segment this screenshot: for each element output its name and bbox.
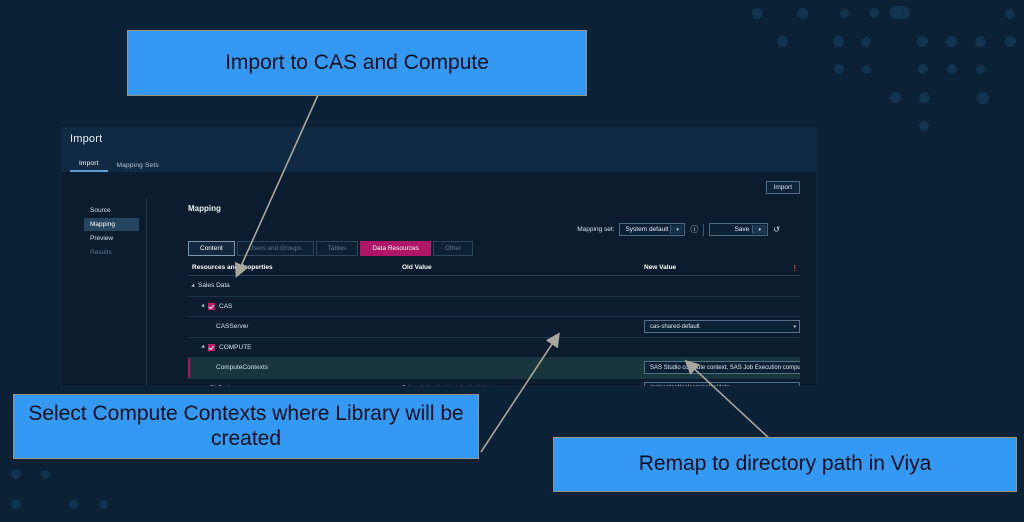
wizard-step-nav[interactable]: Source Mapping Preview Results bbox=[84, 204, 139, 260]
callout-import-to-cas: Import to CAS and Compute bbox=[127, 30, 587, 96]
sidebar-item-results: Results bbox=[84, 246, 139, 259]
tab-content[interactable]: Content bbox=[188, 241, 235, 256]
tab-users-and-groups[interactable]: Users and Groups bbox=[237, 241, 314, 256]
old-value: D:\workshop\gelcorp\sales\data bbox=[398, 385, 638, 386]
import-button[interactable]: Import bbox=[766, 181, 800, 194]
save-button-label: Save bbox=[734, 226, 749, 233]
table-row[interactable]: ComputeContexts SAS Studio compute conte… bbox=[188, 358, 800, 379]
column-header-resources: Resources and Properties bbox=[188, 264, 398, 271]
row-checkbox[interactable] bbox=[208, 344, 215, 351]
page-title: Import bbox=[70, 133, 102, 145]
chevron-down-icon[interactable]: ▾ bbox=[670, 225, 683, 234]
tab-other[interactable]: Other bbox=[433, 241, 473, 256]
mapping-set-label: Mapping set: bbox=[577, 226, 614, 233]
warning-exclamation-icon: ! bbox=[793, 264, 796, 273]
expander-icon[interactable] bbox=[201, 345, 206, 350]
resource-type-tabs[interactable]: Content Users and Groups Tables Data Res… bbox=[188, 241, 473, 256]
mapping-region: Mapping Mapping set: System default ▾ ⓘ … bbox=[152, 198, 808, 386]
mapping-heading: Mapping bbox=[188, 204, 221, 213]
chevron-down-icon[interactable]: ▾ bbox=[793, 324, 796, 330]
chevron-down-icon[interactable]: ▾ bbox=[752, 225, 766, 234]
table-header-row: Resources and Properties Old Value New V… bbox=[188, 259, 800, 276]
reset-icon[interactable]: ↺ bbox=[773, 225, 780, 234]
sidebar-item-mapping[interactable]: Mapping bbox=[84, 218, 139, 231]
table-row[interactable]: CASServer cas-shared-default ▾ bbox=[188, 317, 800, 338]
sidebar-item-preview[interactable]: Preview bbox=[84, 232, 139, 245]
casserver-select[interactable]: cas-shared-default ▾ bbox=[644, 320, 800, 333]
tab-data-resources[interactable]: Data Resources bbox=[360, 241, 431, 256]
new-value: SAS Studio compute context, SAS Job Exec… bbox=[638, 360, 800, 375]
compute-contexts-field[interactable]: SAS Studio compute context, SAS Job Exec… bbox=[644, 361, 800, 374]
new-value: /gelcontent/gelcorp/sales/data bbox=[638, 382, 800, 386]
row-label: CAS bbox=[219, 303, 232, 310]
table-row[interactable]: DirPath D:\workshop\gelcorp\sales\data /… bbox=[188, 379, 800, 387]
main-tab-bar[interactable]: Import Mapping Sets bbox=[70, 153, 168, 172]
callout-remap-directory: Remap to directory path in Viya bbox=[553, 437, 1017, 492]
new-value: cas-shared-default ▾ bbox=[638, 320, 800, 333]
mapping-table: Resources and Properties Old Value New V… bbox=[188, 259, 800, 386]
mapping-set-toolbar: Mapping set: System default ▾ ⓘ Save ▾ ↺ bbox=[577, 223, 780, 236]
expander-icon[interactable] bbox=[201, 304, 206, 309]
row-checkbox[interactable] bbox=[208, 303, 215, 310]
panel-body: Import Source Mapping Preview Results Ma… bbox=[62, 172, 816, 386]
column-header-new-value: New Value ! bbox=[638, 264, 800, 271]
mapping-set-select[interactable]: System default ▾ bbox=[619, 223, 685, 236]
row-label: ComputeContexts bbox=[216, 364, 268, 371]
table-row[interactable]: COMPUTE bbox=[188, 338, 800, 359]
tab-import[interactable]: Import bbox=[70, 158, 108, 172]
callout-select-compute-contexts: Select Compute Contexts where Library wi… bbox=[13, 394, 479, 459]
row-label: CASServer bbox=[216, 323, 249, 330]
table-row[interactable]: Sales Data bbox=[188, 276, 800, 297]
row-label: DirPath bbox=[210, 385, 232, 386]
row-label: COMPUTE bbox=[219, 344, 252, 351]
dirpath-field[interactable]: /gelcontent/gelcorp/sales/data bbox=[644, 382, 800, 386]
mapping-set-value: System default bbox=[625, 226, 668, 233]
tab-tables[interactable]: Tables bbox=[316, 241, 359, 256]
nav-divider bbox=[146, 198, 147, 386]
help-icon[interactable]: ⓘ bbox=[690, 224, 698, 235]
table-row[interactable]: CAS bbox=[188, 297, 800, 318]
row-label: Sales Data bbox=[198, 282, 230, 289]
expander-icon[interactable] bbox=[191, 283, 196, 288]
application-window: Import Import Mapping Sets Import Source… bbox=[62, 128, 816, 386]
save-button[interactable]: Save ▾ bbox=[709, 223, 768, 236]
app-header-bar: Import Import Mapping Sets bbox=[62, 128, 816, 172]
sidebar-item-source[interactable]: Source bbox=[84, 204, 139, 217]
tab-mapping-sets[interactable]: Mapping Sets bbox=[108, 160, 168, 172]
column-header-old-value: Old Value bbox=[398, 264, 638, 271]
